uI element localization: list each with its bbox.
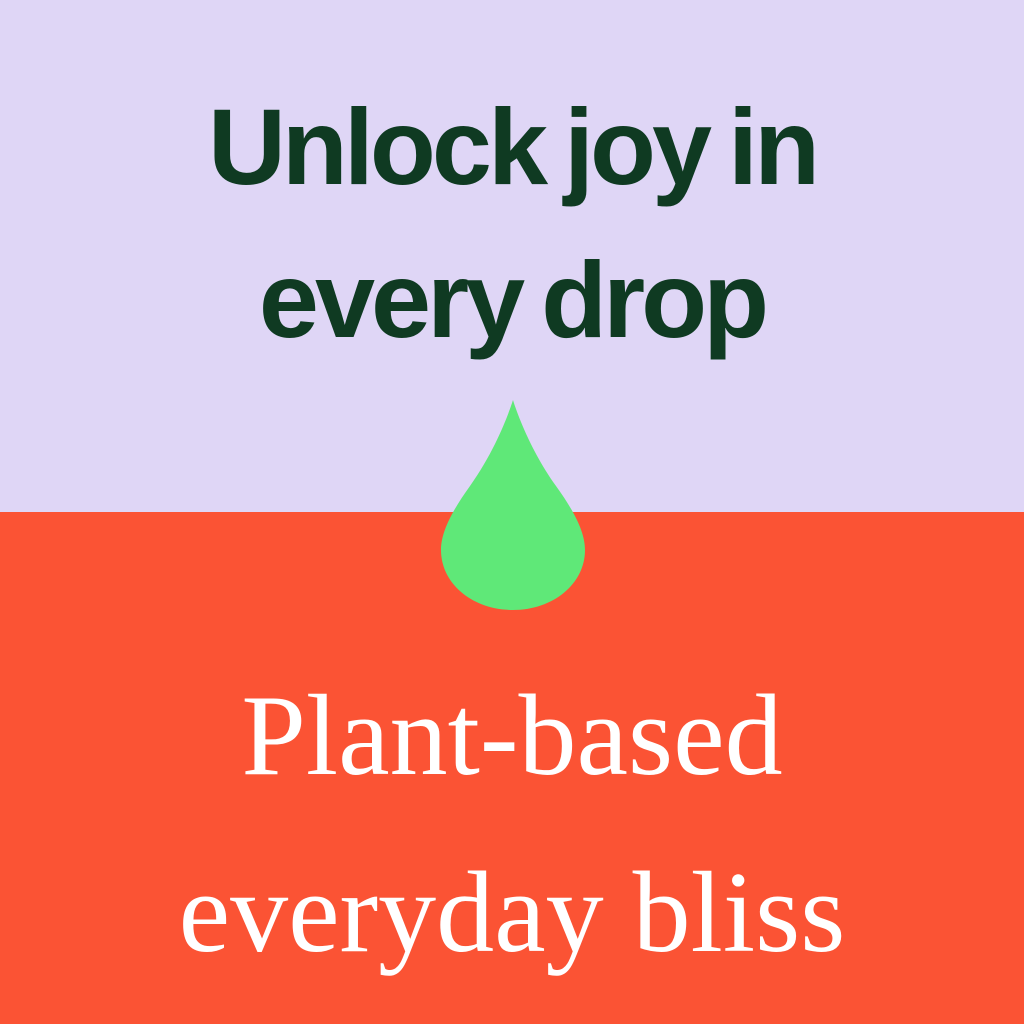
headline: Unlock joy in every drop xyxy=(0,70,1024,377)
promo-card: Unlock joy in every drop Plant-based eve… xyxy=(0,0,1024,1024)
tagline-line-2: everyday bliss xyxy=(0,825,1024,1002)
water-droplet-shape xyxy=(438,398,588,612)
water-droplet-icon xyxy=(438,398,588,612)
headline-line-1: Unlock joy in xyxy=(0,70,1024,223)
tagline: Plant-based everyday bliss xyxy=(0,648,1024,1003)
headline-line-2: every drop xyxy=(0,223,1024,376)
tagline-line-1: Plant-based xyxy=(0,648,1024,825)
